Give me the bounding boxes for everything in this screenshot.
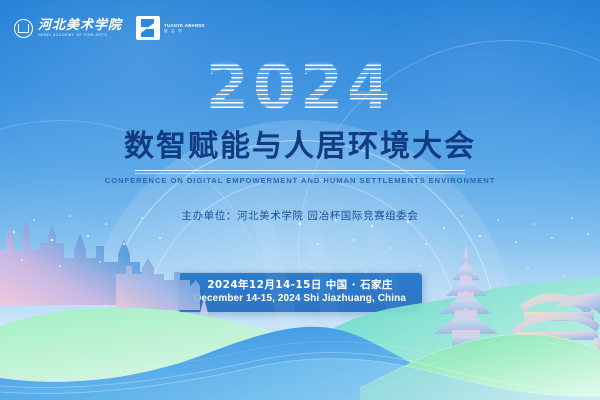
yuanye-awards-logo: YUANYE AWARDS 园 冶 杯 (136, 16, 205, 40)
title-divider-bottom (135, 173, 465, 174)
header-logos: 河北美术学院 HEBEI ACADEMY OF FINE ARTS YUANYE… (14, 16, 205, 40)
conference-poster: 河北美术学院 HEBEI ACADEMY OF FINE ARTS YUANYE… (0, 0, 600, 400)
scenery-illustration (0, 210, 600, 400)
city-skyline-silhouette-icon (0, 220, 200, 310)
yuanye-logo-cn-name: 园 冶 杯 (164, 29, 205, 33)
page-title: 数智赋能与人居环境大会 (0, 128, 600, 166)
page-subtitle: CONFERENCE ON DIGITAL EMPOWERMENT AND HU… (0, 176, 600, 185)
year-heading: 2024 (0, 56, 600, 118)
academy-logo-cn-name: 河北美术学院 (38, 19, 122, 32)
yuanye-mark-icon (136, 16, 160, 40)
circular-seal-icon (14, 19, 33, 38)
title-divider-top (135, 170, 465, 171)
academy-logo-en-name: HEBEI ACADEMY OF FINE ARTS (38, 34, 126, 38)
hebei-academy-of-fine-arts-logo: 河北美术学院 HEBEI ACADEMY OF FINE ARTS (14, 19, 122, 38)
